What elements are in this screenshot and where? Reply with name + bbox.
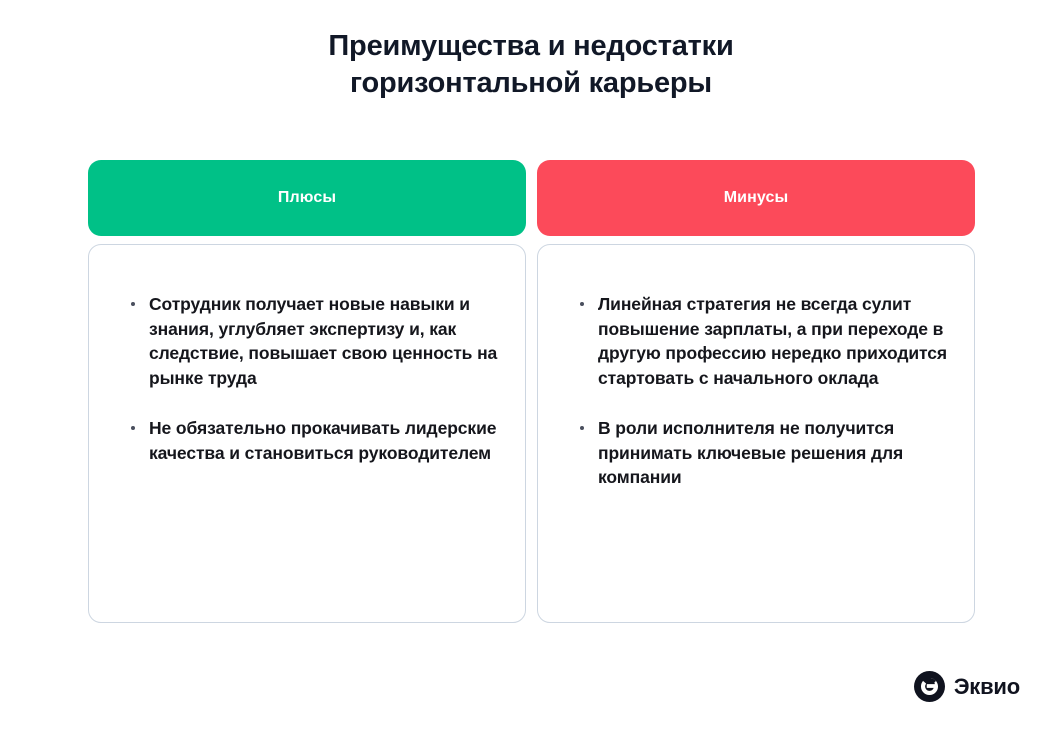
bullet-dot-icon [580, 302, 584, 306]
list-item-text: Сотрудник получает новые навыки и знания… [149, 294, 497, 388]
list-item: Линейная стратегия не всегда сулит повыш… [578, 292, 948, 390]
slide-canvas: Преимущества и недостатки горизонтальной… [0, 0, 1062, 735]
column-body-pros: Сотрудник получает новые навыки и знания… [88, 244, 526, 623]
pros-list: Сотрудник получает новые навыки и знания… [129, 292, 499, 465]
comparison-columns: Плюсы Сотрудник получает новые навыки и … [88, 160, 975, 623]
column-header-cons: Минусы [537, 160, 975, 236]
column-header-pros: Плюсы [88, 160, 526, 236]
column-pros: Плюсы Сотрудник получает новые навыки и … [88, 160, 526, 623]
page-title: Преимущества и недостатки горизонтальной… [0, 28, 1062, 102]
bullet-dot-icon [131, 302, 135, 306]
bullet-dot-icon [580, 426, 584, 430]
bullet-dot-icon [131, 426, 135, 430]
column-header-pros-label: Плюсы [278, 189, 336, 207]
list-item-text: В роли исполнителя не получится принимат… [598, 418, 903, 487]
column-body-cons: Линейная стратегия не всегда сулит повыш… [537, 244, 975, 623]
ekvio-circle-logo-icon [914, 671, 945, 702]
list-item: Сотрудник получает новые навыки и знания… [129, 292, 499, 390]
list-item-text: Линейная стратегия не всегда сулит повыш… [598, 294, 947, 388]
list-item: В роли исполнителя не получится принимат… [578, 416, 948, 490]
column-header-cons-label: Минусы [724, 189, 789, 207]
brand-logo: Эквио [914, 671, 1020, 702]
page-title-line-2: горизонтальной карьеры [0, 65, 1062, 102]
list-item: Не обязательно прокачивать лидерские кач… [129, 416, 499, 465]
column-cons: Минусы Линейная стратегия не всегда сули… [537, 160, 975, 623]
cons-list: Линейная стратегия не всегда сулит повыш… [578, 292, 948, 490]
brand-name: Эквио [954, 676, 1020, 698]
page-title-line-1: Преимущества и недостатки [0, 28, 1062, 65]
list-item-text: Не обязательно прокачивать лидерские кач… [149, 418, 496, 463]
